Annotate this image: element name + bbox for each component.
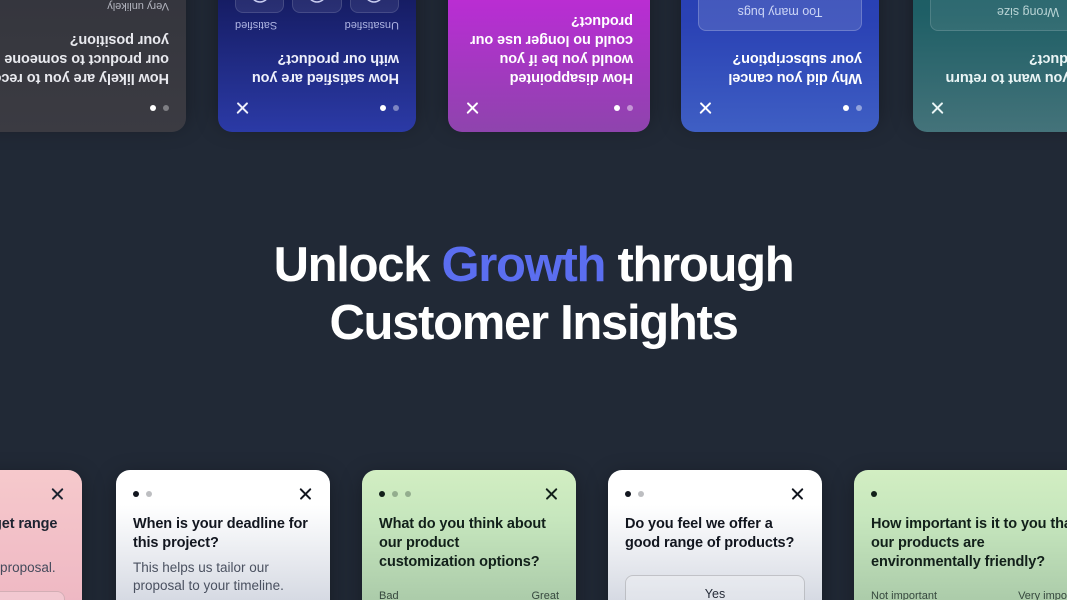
close-icon[interactable] — [50, 486, 65, 501]
card-header — [379, 486, 559, 501]
question-subtitle: So we can tailor our proposal. — [0, 559, 65, 577]
option-button[interactable]: Too many bugs — [698, 0, 862, 31]
pagination-dot-active[interactable] — [614, 106, 620, 112]
pagination-dot[interactable] — [405, 491, 411, 497]
scale-labels: Very unlikely — [0, 0, 169, 12]
pagination-dots[interactable] — [380, 106, 399, 112]
hero-line2: Customer Insights — [329, 296, 737, 350]
pagination-dot[interactable] — [627, 106, 633, 112]
option-button[interactable]: Under $5,000 — [0, 591, 65, 600]
close-icon[interactable] — [698, 101, 713, 116]
card-header — [133, 486, 313, 501]
question-title: Do you feel we offer a good range of pro… — [625, 515, 805, 553]
pagination-dots[interactable] — [871, 491, 877, 497]
survey-card-return-reason[interactable]: Why do you want to return your product? … — [913, 0, 1067, 132]
scale-label-left: Unsatisfied — [345, 19, 399, 31]
neutral-face-icon — [305, 0, 329, 5]
survey-card-product-range[interactable]: Do you feel we offer a good range of pro… — [608, 470, 822, 600]
question-title: Why do you want to return your product? — [930, 49, 1067, 87]
options-row — [235, 0, 399, 13]
page-root: How likely are you to recommend our prod… — [0, 0, 1067, 600]
scale-label-right: Great — [531, 590, 559, 600]
close-icon[interactable] — [465, 101, 480, 116]
close-icon[interactable] — [930, 101, 945, 116]
pagination-dot-active[interactable] — [871, 491, 877, 497]
pagination-dots[interactable] — [150, 106, 169, 112]
survey-card-nps[interactable]: How likely are you to recommend our prod… — [0, 0, 186, 132]
options-column: Under $5,000 — [0, 591, 65, 600]
pagination-dot-active[interactable] — [625, 491, 631, 497]
pagination-dot[interactable] — [392, 491, 398, 497]
options-column: Wrong size Didn't like the product — [930, 0, 1067, 31]
pagination-dot-active[interactable] — [379, 491, 385, 497]
pagination-dot[interactable] — [146, 491, 152, 497]
scale-label-left: Not important — [871, 590, 937, 600]
frown-face-icon — [362, 0, 386, 5]
close-icon[interactable] — [544, 486, 559, 501]
pagination-dot[interactable] — [638, 491, 644, 497]
pagination-dots[interactable] — [614, 106, 633, 112]
close-icon[interactable] — [790, 486, 805, 501]
option-button-frown[interactable] — [350, 0, 399, 13]
survey-card-budget[interactable]: What is your budget range for this proje… — [0, 470, 82, 600]
card-header — [698, 101, 862, 116]
question-title: How disappointed would you be if you cou… — [465, 11, 633, 88]
pagination-dot[interactable] — [163, 106, 169, 112]
question-title: What is your budget range for this proje… — [0, 515, 65, 553]
option-button-smile[interactable] — [235, 0, 284, 13]
scale-labels: Not important Very important — [871, 590, 1067, 600]
scale-label-left: Bad — [379, 590, 399, 600]
survey-card-disappointment[interactable]: How disappointed would you be if you cou… — [448, 0, 650, 132]
options-column: Yes No — [625, 575, 805, 600]
survey-card-eco-importance[interactable]: How important is it to you that our prod… — [854, 470, 1067, 600]
survey-card-cancel-reason[interactable]: Why did you cancel your subscription? To… — [681, 0, 879, 132]
hero-line1-before: Unlock — [274, 238, 442, 292]
hero-section: Unlock Growth through Customer Insights — [0, 236, 1067, 353]
hero-line1-after: through — [605, 238, 793, 292]
question-title: When is your deadline for this project? — [133, 515, 313, 553]
scale-labels: Bad Great — [379, 590, 559, 600]
card-header — [235, 101, 399, 116]
scale-label-right: Very important — [1018, 590, 1067, 600]
question-title: How important is it to you that our prod… — [871, 515, 1067, 572]
pagination-dot[interactable] — [856, 106, 862, 112]
card-header — [625, 486, 805, 501]
card-header — [871, 486, 1067, 501]
card-header — [465, 101, 633, 116]
option-button-neutral[interactable] — [292, 0, 341, 13]
question-title: How likely are you to recommend our prod… — [0, 30, 169, 87]
pagination-dots[interactable] — [625, 491, 644, 497]
survey-card-deadline[interactable]: When is your deadline for this project? … — [116, 470, 330, 600]
question-subtitle: This helps us tailor our proposal to you… — [133, 559, 313, 595]
options-column: Too many bugs Missing features — [698, 0, 862, 31]
option-button[interactable]: Wrong size — [930, 0, 1067, 31]
close-icon[interactable] — [298, 486, 313, 501]
scale-label-left: Very unlikely — [107, 0, 169, 12]
page-title: Unlock Growth through Customer Insights — [60, 236, 1007, 353]
card-header — [0, 101, 169, 116]
option-button-yes[interactable]: Yes — [625, 575, 805, 600]
card-header — [0, 486, 65, 501]
smile-face-icon — [248, 0, 272, 5]
close-icon[interactable] — [235, 101, 250, 116]
survey-card-satisfaction[interactable]: How satisfied are you with our product? … — [218, 0, 416, 132]
pagination-dot-active[interactable] — [150, 106, 156, 112]
card-header — [930, 101, 1067, 116]
pagination-dot-active[interactable] — [380, 106, 386, 112]
pagination-dots[interactable] — [379, 491, 411, 497]
question-title: How satisfied are you with our product? — [235, 49, 399, 87]
scale-label-right: Satisfied — [235, 19, 277, 31]
scale-labels: Unsatisfied Satisfied — [235, 19, 399, 31]
survey-card-customization[interactable]: What do you think about our product cust… — [362, 470, 576, 600]
pagination-dot[interactable] — [393, 106, 399, 112]
question-title: Why did you cancel your subscription? — [698, 49, 862, 87]
question-title: What do you think about our product cust… — [379, 515, 559, 572]
pagination-dot-active[interactable] — [133, 491, 139, 497]
pagination-dots[interactable] — [133, 491, 152, 497]
hero-accent-word: Growth — [441, 238, 605, 292]
pagination-dots[interactable] — [843, 106, 862, 112]
pagination-dot-active[interactable] — [843, 106, 849, 112]
